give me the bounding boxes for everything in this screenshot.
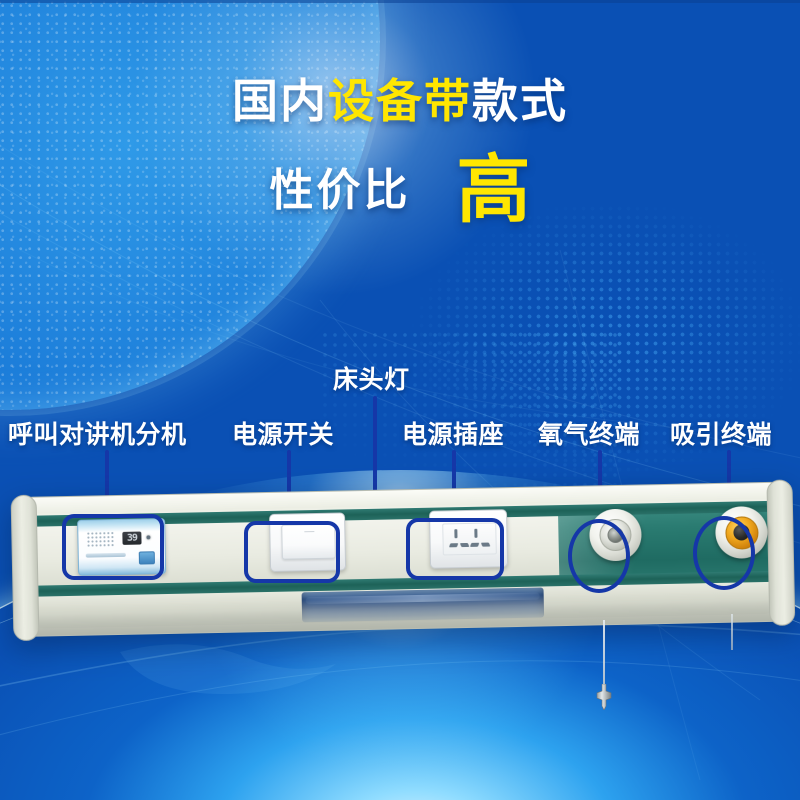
highlight-oval-suction-terminal: [693, 516, 755, 590]
headline-line1-part2: 款式: [472, 74, 568, 128]
callout-label-suction-terminal: 吸引终端: [670, 415, 772, 451]
headline-line-2: 性价比: [270, 154, 411, 218]
callout-label-bed-lamp: 床头灯: [333, 360, 410, 396]
callout-label-oxygen-terminal: 氧气终端: [538, 415, 640, 451]
headline-block: 国内设备带款式 性价比 高: [0, 78, 800, 220]
panel-end-cap-right: [766, 479, 795, 625]
callout-label-power-switch: 电源开关: [232, 415, 334, 451]
suction-hose-cord: [731, 614, 733, 650]
callout-label-power-socket: 电源插座: [402, 415, 504, 451]
headline-line1-highlight: 设备带: [328, 74, 472, 128]
headline-line1-part1: 国内: [232, 74, 328, 128]
headline-line-1: 国内设备带款式: [0, 78, 800, 124]
oxygen-hose-cord: [603, 620, 605, 692]
highlight-box-intercom: [62, 514, 164, 580]
highlight-box-power-socket: [406, 518, 504, 580]
product-banner: 国内设备带款式 性价比 高 呼叫对讲机分机 电源开关 床头灯 电源插座 氧气终端…: [0, 0, 800, 800]
headline-line-2-row: 性价比 高: [0, 152, 800, 220]
cord-grip-handle-icon: [592, 684, 616, 710]
callout-label-intercom: 呼叫对讲机分机: [8, 415, 187, 451]
top-edge-bar: [0, 0, 800, 3]
panel-end-cap-left: [11, 495, 40, 641]
highlight-oval-oxygen-terminal: [568, 519, 630, 593]
headline-accent-character: 高: [457, 156, 531, 224]
highlight-box-power-switch: [244, 521, 340, 583]
